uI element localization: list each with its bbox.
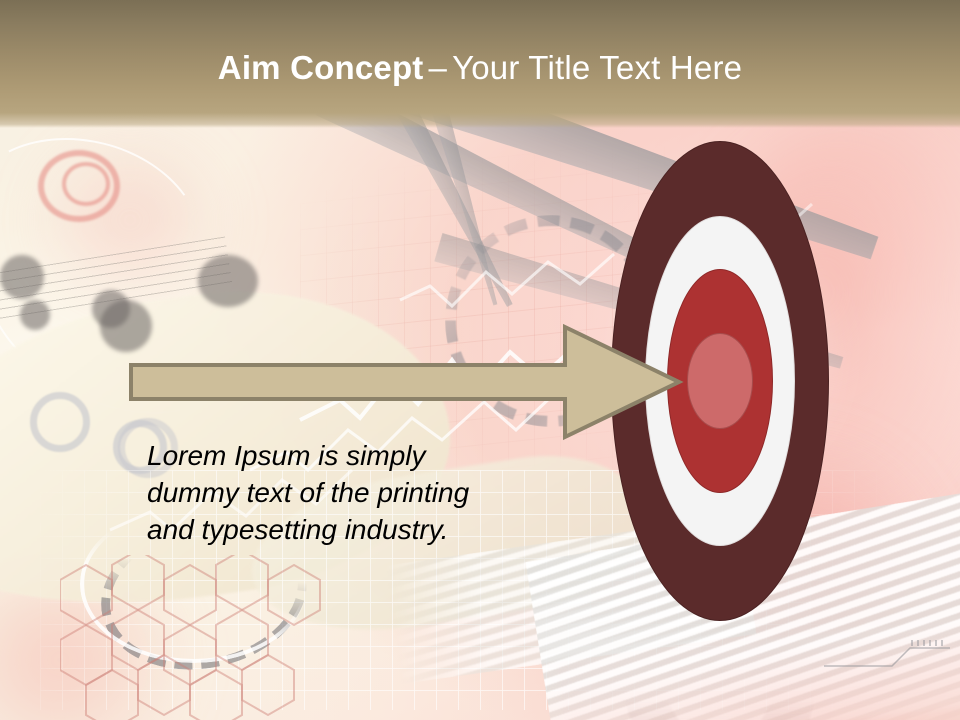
background-red-circle-inner [62,162,110,206]
target-bullseye-center [687,333,753,429]
page-title-rest: Your Title Text Here [452,49,742,86]
page-title: Aim Concept–Your Title Text Here [0,48,960,88]
body-text-block: Lorem Ipsum is simply dummy text of the … [147,437,547,548]
background-knob-ring-1 [30,392,90,452]
background-tech-detail [822,636,952,670]
target-reflection [611,622,829,720]
slide-canvas: Aim Concept–Your Title Text Here Lorem I… [0,0,960,720]
page-title-strong: Aim Concept [218,49,424,86]
background-dark-dot-4 [198,255,258,307]
body-text-line-3: and typesetting industry. [147,511,547,548]
background-dark-dot-1 [0,255,44,299]
background-dark-dot-5 [20,300,50,330]
page-title-dash: – [424,49,453,86]
aim-arrow-icon [128,318,684,446]
body-text-line-2: dummy text of the printing [147,474,547,511]
body-text-line-1: Lorem Ipsum is simply [147,437,547,474]
